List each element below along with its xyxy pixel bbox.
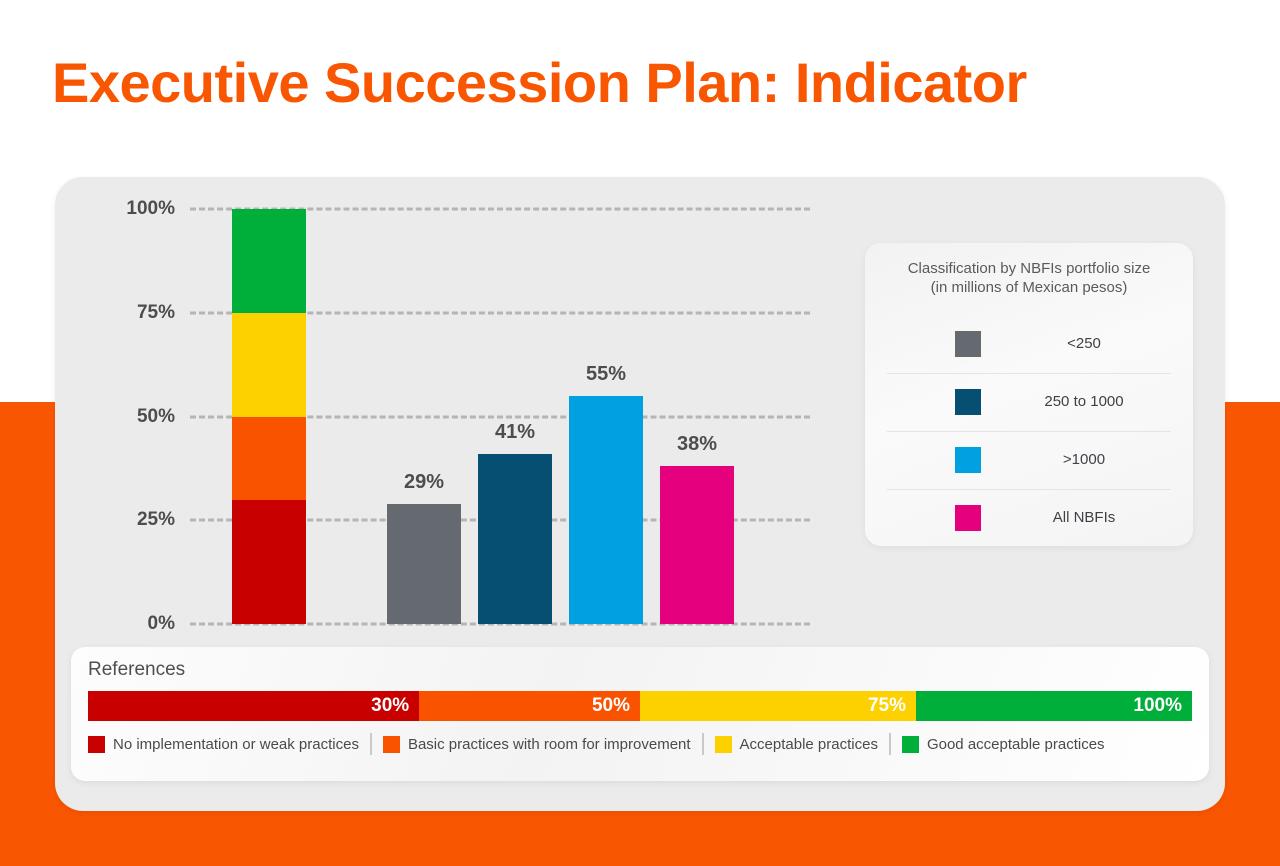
reference-bar-segment: 100% xyxy=(916,691,1192,721)
legend-item-label: 250 to 1000 xyxy=(997,393,1171,410)
reference-bar-segment: 50% xyxy=(419,691,640,721)
legend-swatch-icon xyxy=(955,331,981,357)
reference-legend-item: Basic practices with room for improvemen… xyxy=(383,736,691,753)
legend-item-label: <250 xyxy=(997,335,1171,352)
page-title: Executive Succession Plan: Indicator xyxy=(52,42,1252,124)
reference-bar-value: 30% xyxy=(371,695,409,717)
reference-legend-separator xyxy=(370,733,372,755)
legend-card: Classification by NBFIs portfolio size (… xyxy=(865,243,1193,546)
bar xyxy=(478,454,552,624)
reference-bar-value: 75% xyxy=(868,695,906,717)
references-card: References 30%50%75%100% No implementati… xyxy=(71,647,1209,781)
bar-value-label: 41% xyxy=(495,421,535,444)
reference-legend-separator xyxy=(889,733,891,755)
reference-bar-value: 100% xyxy=(1133,695,1182,717)
bar xyxy=(660,466,734,624)
bar xyxy=(569,396,643,624)
references-scale-bar: 30%50%75%100% xyxy=(88,691,1192,721)
legend-swatch-icon xyxy=(955,505,981,531)
reference-legend-label: Basic practices with room for improvemen… xyxy=(408,736,691,753)
legend-title: Classification by NBFIs portfolio size (… xyxy=(865,259,1193,297)
reference-legend-label: Good acceptable practices xyxy=(927,736,1105,753)
legend-item-label: >1000 xyxy=(997,451,1171,468)
reference-legend-item: Acceptable practices xyxy=(715,736,878,753)
legend-item[interactable]: >1000 xyxy=(887,431,1171,489)
scale-segment xyxy=(232,500,306,625)
bar-value-label: 29% xyxy=(404,471,444,494)
y-axis-tick-label: 25% xyxy=(85,509,175,531)
y-axis-tick-label: 100% xyxy=(85,198,175,220)
reference-bar-segment: 30% xyxy=(88,691,419,721)
reference-legend-swatch-icon xyxy=(88,736,105,753)
reference-legend-item: Good acceptable practices xyxy=(902,736,1105,753)
legend-item[interactable]: <250 xyxy=(887,315,1171,373)
bar-value-label: 38% xyxy=(677,433,717,456)
scale-segment xyxy=(232,209,306,313)
reference-legend-item: No implementation or weak practices xyxy=(88,736,359,753)
bar xyxy=(387,504,461,624)
references-title: References xyxy=(88,659,185,681)
scale-segment xyxy=(232,313,306,417)
legend-item[interactable]: 250 to 1000 xyxy=(887,373,1171,431)
reference-legend-swatch-icon xyxy=(715,736,732,753)
reference-legend-separator xyxy=(702,733,704,755)
reference-legend-label: Acceptable practices xyxy=(740,736,878,753)
y-axis-tick-label: 75% xyxy=(85,302,175,324)
y-axis-tick-label: 50% xyxy=(85,406,175,428)
scale-reference-bar xyxy=(232,209,306,624)
legend-item-label: All NBFIs xyxy=(997,509,1171,526)
references-legend: No implementation or weak practicesBasic… xyxy=(88,731,1192,757)
reference-legend-label: No implementation or weak practices xyxy=(113,736,359,753)
reference-bar-segment: 75% xyxy=(640,691,916,721)
bar-value-label: 55% xyxy=(586,363,626,386)
legend-swatch-icon xyxy=(955,389,981,415)
chart-card: 0%25%50%75%100% 29%41%55%38% Classificat… xyxy=(55,177,1225,811)
legend-swatch-icon xyxy=(955,447,981,473)
scale-segment xyxy=(232,417,306,500)
reference-bar-value: 50% xyxy=(592,695,630,717)
reference-legend-swatch-icon xyxy=(902,736,919,753)
reference-legend-swatch-icon xyxy=(383,736,400,753)
legend-item[interactable]: All NBFIs xyxy=(887,489,1171,547)
y-axis-tick-label: 0% xyxy=(85,613,175,635)
